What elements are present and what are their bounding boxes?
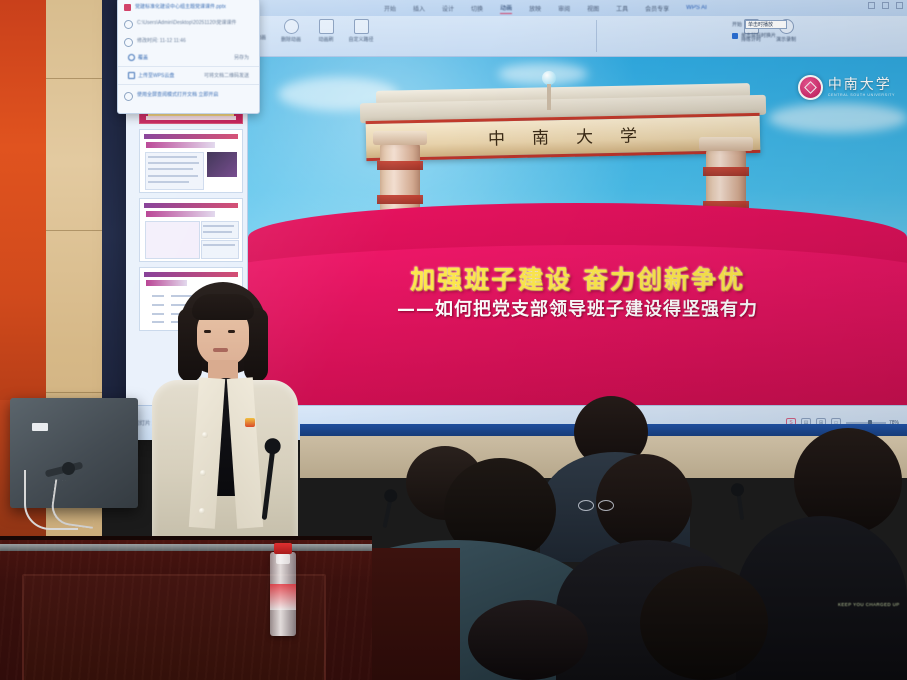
folder-icon [124,20,133,29]
pptx-file-icon [124,4,131,11]
tab-transition[interactable]: 切换 [471,4,483,13]
slide-subtitle: ——如何把党支部领导班子建设得坚强有力 [248,295,907,321]
popup-modified-time: 修改时间: 11-12 11:46 [137,37,186,45]
custom-path-label: 自定义路径 [348,36,373,43]
popup-option-overwrite[interactable]: 覆盖 [128,54,148,61]
file-save-popup[interactable]: 党建标准化建设中心组主题党课课件.pptx C:\Users\Admin\Des… [117,0,260,114]
gate-char-4: 学 [620,121,639,146]
fullscreen-icon [124,92,133,101]
popup-footer[interactable]: 使用全屏查阅模式打开文档 立即开启 [137,91,218,99]
thumbnail-slide-2[interactable]: 2 [139,129,243,193]
university-emblem-icon [798,75,823,100]
custom-path-icon [354,19,369,34]
clock-icon [124,38,133,47]
presenter [150,282,300,540]
audience-head-7 [468,600,588,680]
university-name-en: CENTRAL SOUTH UNIVERSITY [828,94,895,98]
popup-file-title: 党建标准化建设中心组主题党课课件.pptx [135,3,226,11]
minimize-icon[interactable] [868,2,875,9]
popup-upload-cloud[interactable]: 上传至WPS云盘 [128,72,174,79]
popup-upload-label: 上传至WPS云盘 [138,72,174,79]
audience-jacket-text: KEEP YOU CHARGED UP [838,602,900,607]
university-name-cn: 中南大学 [828,78,895,92]
tab-design[interactable]: 设计 [442,4,454,13]
animation-brush-label: 动画刷 [318,36,333,43]
party-emblem-pin-icon [245,418,255,427]
tab-start[interactable]: 开始 [384,4,396,13]
delete-animation-icon [284,19,299,34]
university-logo: 中南大学 CENTRAL SOUTH UNIVERSITY [798,75,895,100]
audience-head-6 [640,566,768,680]
tab-member[interactable]: 会员专享 [645,4,669,13]
podium [0,536,372,680]
animation-brush-icon [319,19,334,34]
popup-option-saveas[interactable]: 另存为 [234,54,249,61]
window-controls[interactable] [868,2,903,9]
tab-tools[interactable]: 工具 [616,4,628,13]
start-label: 开始 [732,21,742,28]
popup-option-overwrite-label: 覆盖 [138,54,148,61]
tab-animation[interactable]: 动画 [500,3,512,14]
slide-canvas[interactable]: 中 南 大 学 [248,57,907,405]
audience-microphone-1 [383,494,394,528]
start-dropdown[interactable]: 单击时播放 [745,20,787,29]
delete-animation-button[interactable]: 删除动画 [278,19,304,43]
thumbnail-slide-3[interactable]: 3 [139,198,243,262]
bottle-label [270,584,296,610]
monitor-badge [32,423,48,431]
podium-wood-grain [0,540,372,680]
audience-microphone-2 [736,488,744,520]
water-bottle [270,552,296,636]
eyeglasses-icon [578,500,594,511]
eyeglasses-icon-right [598,500,614,511]
gate-char-3: 大 [576,122,595,147]
tab-view[interactable]: 视图 [587,4,599,13]
wall-orange-panel [0,0,46,420]
ribbon-start-options[interactable]: 开始 单击时播放 单击鼠标时换片 [732,20,787,39]
advance-on-click-label: 单击鼠标时换片 [741,32,776,39]
screenshot-root: 开始 插入 设计 切换 动画 放映 审阅 视图 工具 会员专享 WPS AI 预… [0,0,907,680]
gate-char-1: 中 [488,124,507,149]
presenter-mouth [213,348,228,352]
popup-upload-action[interactable]: 可将文档二维码发送 [204,72,249,79]
advance-on-click-checkbox[interactable] [732,33,738,39]
tab-slideshow[interactable]: 放映 [529,4,541,13]
gate-char-2: 南 [532,123,551,148]
popup-file-path: C:\Users\Admin\Desktop\20251120\党课课件 [137,19,236,27]
gate-lamp-icon [538,71,560,111]
bottle-cap [274,543,292,554]
custom-path-button[interactable]: 自定义路径 [348,19,374,43]
close-icon[interactable] [896,2,903,9]
tab-wps-ai[interactable]: WPS AI [686,5,707,11]
presenter-fringe [192,294,254,320]
tab-review[interactable]: 审阅 [558,4,570,13]
animation-brush-button[interactable]: 动画刷 [313,19,339,43]
slide-title: 加强班子建设 奋力创新争优 [248,260,907,296]
tab-insert[interactable]: 插入 [413,4,425,13]
maximize-icon[interactable] [882,2,889,9]
delete-animation-label: 删除动画 [281,36,301,43]
